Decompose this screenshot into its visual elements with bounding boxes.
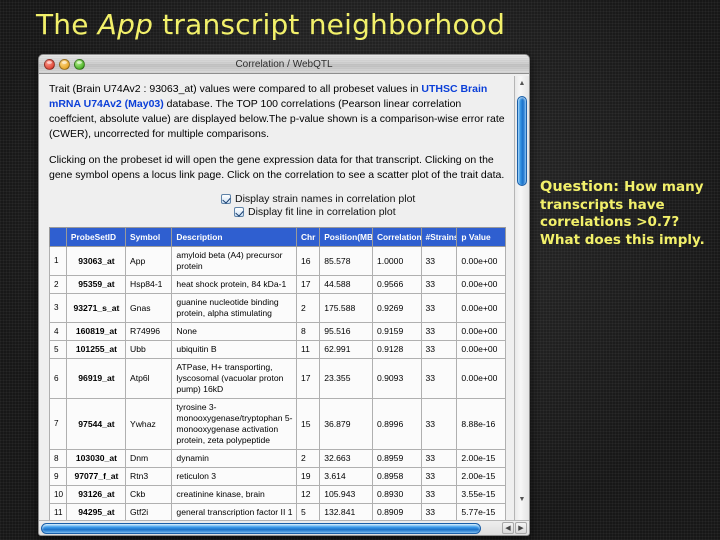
cell-description: ubiquitin B <box>172 341 297 359</box>
table-header: ProbeSetID Symbol Description Chr Positi… <box>50 228 506 247</box>
cell-strain-count: 33 <box>421 294 457 323</box>
column-header-chr[interactable]: Chr <box>296 228 319 247</box>
column-header-index[interactable] <box>50 228 67 247</box>
cell-correlation[interactable]: 0.8959 <box>372 450 421 468</box>
column-header-probesetid[interactable]: ProbeSetID <box>66 228 125 247</box>
checkbox-checked-icon[interactable] <box>234 207 244 217</box>
checkbox-row-strain-names[interactable]: Display strain names in correlation plot <box>221 193 506 205</box>
cell-position-mb: 36.879 <box>320 399 373 450</box>
intro-text-a: Trait (Brain U74Av2 : 93063_at) values w… <box>49 83 421 95</box>
question-label: Question: <box>540 179 624 195</box>
cell-position-mb: 85.578 <box>320 247 373 276</box>
cell-description: guanine nucleotide binding protein, alph… <box>172 294 297 323</box>
cell-p-value: 3.55e-15 <box>457 486 506 504</box>
cell-position-mb: 95.516 <box>320 323 373 341</box>
page-title-suffix: transcript neighborhood <box>153 8 505 41</box>
horizontal-scrollbar[interactable]: ◀ ▶ <box>39 520 529 535</box>
cell-position-mb: 62.991 <box>320 341 373 359</box>
cell-chromosome: 16 <box>296 247 319 276</box>
cell-description: amyloid beta (A4) precursor protein <box>172 247 297 276</box>
cell-p-value: 2.00e-15 <box>457 468 506 486</box>
cell-chromosome: 11 <box>296 341 319 359</box>
cell-probeset-id[interactable]: 95359_at <box>66 276 125 294</box>
page-content: Trait (Brain U74Av2 : 93063_at) values w… <box>39 76 514 520</box>
cell-chromosome: 2 <box>296 294 319 323</box>
table-header-row: ProbeSetID Symbol Description Chr Positi… <box>50 228 506 247</box>
cell-gene-symbol[interactable]: Rtn3 <box>125 468 171 486</box>
scroll-left-arrow-icon[interactable]: ◀ <box>502 522 514 534</box>
cell-correlation[interactable]: 0.8909 <box>372 504 421 520</box>
cell-description: dynamin <box>172 450 297 468</box>
cell-description: creatinine kinase, brain <box>172 486 297 504</box>
column-header-symbol[interactable]: Symbol <box>125 228 171 247</box>
page-title-gene: App <box>98 8 153 41</box>
cell-description: reticulon 3 <box>172 468 297 486</box>
cell-p-value: 0.00e+00 <box>457 247 506 276</box>
cell-p-value: 2.00e-15 <box>457 450 506 468</box>
window-controls <box>44 59 85 70</box>
cell-position-mb: 175.588 <box>320 294 373 323</box>
cell-strain-count: 33 <box>421 359 457 399</box>
column-header-position[interactable]: Position(MB) <box>320 228 373 247</box>
window-titlebar[interactable]: Correlation / WebQTL <box>39 55 529 74</box>
checkbox-label-fit-line: Display fit line in correlation plot <box>248 206 396 218</box>
cell-chromosome: 5 <box>296 504 319 520</box>
cell-chromosome: 17 <box>296 276 319 294</box>
cell-p-value: 0.00e+00 <box>457 323 506 341</box>
vertical-scrollbar[interactable]: ▲ ▼ <box>514 76 529 520</box>
cell-row-index: 1 <box>50 247 67 276</box>
cell-p-value: 5.77e-15 <box>457 504 506 520</box>
cell-correlation[interactable]: 0.9093 <box>372 359 421 399</box>
table-row: 797544_atYwhaztyrosine 3-monooxygenase/t… <box>50 399 506 450</box>
cell-position-mb: 3.614 <box>320 468 373 486</box>
table-row: 295359_atHsp84-1heat shock protein, 84 k… <box>50 276 506 294</box>
cell-chromosome: 17 <box>296 359 319 399</box>
table-body: 193063_atAppamyloid beta (A4) precursor … <box>50 247 506 520</box>
cell-chromosome: 2 <box>296 450 319 468</box>
cell-strain-count: 33 <box>421 468 457 486</box>
question-callout: Question: How many transcripts have corr… <box>540 178 712 249</box>
cell-gene-symbol[interactable]: Atp6l <box>125 359 171 399</box>
cell-position-mb: 132.841 <box>320 504 373 520</box>
cell-description: ATPase, H+ transporting, lyscosomal (vac… <box>172 359 297 399</box>
cell-description: tyrosine 3-monooxygenase/tryptophan 5-mo… <box>172 399 297 450</box>
cell-position-mb: 32.663 <box>320 450 373 468</box>
cell-correlation[interactable]: 0.9566 <box>372 276 421 294</box>
cell-chromosome: 15 <box>296 399 319 450</box>
cell-probeset-id[interactable]: 96919_at <box>66 359 125 399</box>
checkbox-checked-icon[interactable] <box>221 194 231 204</box>
table-row: 997077_f_atRtn3reticulon 3193.6140.89583… <box>50 468 506 486</box>
scroll-up-arrow-icon[interactable]: ▲ <box>515 78 529 90</box>
window-title: Correlation / WebQTL <box>39 59 529 70</box>
cell-strain-count: 33 <box>421 323 457 341</box>
cell-gene-symbol[interactable]: Gnas <box>125 294 171 323</box>
cell-p-value: 0.00e+00 <box>457 341 506 359</box>
cell-gene-symbol[interactable]: App <box>125 247 171 276</box>
cell-row-index: 10 <box>50 486 67 504</box>
minimize-button-icon[interactable] <box>59 59 70 70</box>
cell-gene-symbol[interactable]: Ywhaz <box>125 399 171 450</box>
page-title: The App transcript neighborhood <box>36 8 505 41</box>
cell-row-index: 5 <box>50 341 67 359</box>
horizontal-scrollbar-thumb[interactable] <box>41 523 481 534</box>
cell-p-value: 0.00e+00 <box>457 359 506 399</box>
table-row: 393271_s_atGnasguanine nucleotide bindin… <box>50 294 506 323</box>
application-window: Correlation / WebQTL Trait (Brain U74Av2… <box>38 54 530 536</box>
cell-p-value: 0.00e+00 <box>457 276 506 294</box>
cell-strain-count: 33 <box>421 247 457 276</box>
intro-paragraph-1: Trait (Brain U74Av2 : 93063_at) values w… <box>49 82 506 142</box>
cell-position-mb: 23.355 <box>320 359 373 399</box>
checkbox-label-strain-names: Display strain names in correlation plot <box>235 193 415 205</box>
cell-correlation[interactable]: 0.8930 <box>372 486 421 504</box>
checkbox-row-fit-line[interactable]: Display fit line in correlation plot <box>234 206 506 218</box>
cell-strain-count: 33 <box>421 486 457 504</box>
cell-correlation[interactable]: 0.8958 <box>372 468 421 486</box>
cell-correlation[interactable]: 0.9269 <box>372 294 421 323</box>
cell-correlation[interactable]: 0.9128 <box>372 341 421 359</box>
table-row: 696919_atAtp6lATPase, H+ transporting, l… <box>50 359 506 399</box>
cell-position-mb: 44.588 <box>320 276 373 294</box>
cell-probeset-id[interactable]: 160819_at <box>66 323 125 341</box>
cell-p-value: 8.88e-16 <box>457 399 506 450</box>
cell-chromosome: 8 <box>296 323 319 341</box>
table-row: 193063_atAppamyloid beta (A4) precursor … <box>50 247 506 276</box>
cell-probeset-id[interactable]: 103030_at <box>66 450 125 468</box>
cell-row-index: 11 <box>50 504 67 520</box>
cell-probeset-id[interactable]: 97544_at <box>66 399 125 450</box>
cell-probeset-id[interactable]: 94295_at <box>66 504 125 520</box>
cell-correlation[interactable]: 0.9159 <box>372 323 421 341</box>
cell-row-index: 4 <box>50 323 67 341</box>
cell-description: None <box>172 323 297 341</box>
cell-row-index: 3 <box>50 294 67 323</box>
cell-row-index: 6 <box>50 359 67 399</box>
table-row: 4160819_atR74996None895.5160.9159330.00e… <box>50 323 506 341</box>
page-title-prefix: The <box>36 8 98 41</box>
cell-probeset-id[interactable]: 97077_f_at <box>66 468 125 486</box>
cell-gene-symbol[interactable]: R74996 <box>125 323 171 341</box>
cell-row-index: 8 <box>50 450 67 468</box>
maximize-button-icon[interactable] <box>74 59 85 70</box>
cell-chromosome: 12 <box>296 486 319 504</box>
cell-gene-symbol[interactable]: Hsp84-1 <box>125 276 171 294</box>
cell-gene-symbol[interactable]: Gtf2i <box>125 504 171 520</box>
cell-chromosome: 19 <box>296 468 319 486</box>
correlation-results-table: ProbeSetID Symbol Description Chr Positi… <box>49 227 506 520</box>
cell-gene-symbol[interactable]: Ckb <box>125 486 171 504</box>
scroll-down-arrow-icon[interactable]: ▼ <box>515 494 529 506</box>
cell-strain-count: 33 <box>421 450 457 468</box>
table-row: 8103030_atDnmdynamin232.6630.8959332.00e… <box>50 450 506 468</box>
cell-row-index: 9 <box>50 468 67 486</box>
window-body: Trait (Brain U74Av2 : 93063_at) values w… <box>39 74 529 520</box>
table-row: 1194295_atGtf2igeneral transcription fac… <box>50 504 506 520</box>
cell-gene-symbol[interactable]: Dnm <box>125 450 171 468</box>
column-header-correlation[interactable]: Correlation <box>372 228 421 247</box>
vertical-scrollbar-thumb[interactable] <box>517 96 527 186</box>
cell-correlation[interactable]: 1.0000 <box>372 247 421 276</box>
cell-correlation[interactable]: 0.8996 <box>372 399 421 450</box>
table-row: 5101255_atUbbubiquitin B1162.9910.912833… <box>50 341 506 359</box>
cell-description: heat shock protein, 84 kDa-1 <box>172 276 297 294</box>
cell-probeset-id[interactable]: 93271_s_at <box>66 294 125 323</box>
cell-probeset-id[interactable]: 93063_at <box>66 247 125 276</box>
close-button-icon[interactable] <box>44 59 55 70</box>
cell-strain-count: 33 <box>421 504 457 520</box>
horizontal-scroll-arrows: ◀ ▶ <box>502 522 527 534</box>
column-header-description[interactable]: Description <box>172 228 297 247</box>
cell-description: general transcription factor II 1 <box>172 504 297 520</box>
cell-p-value: 0.00e+00 <box>457 294 506 323</box>
cell-strain-count: 33 <box>421 399 457 450</box>
column-header-pvalue[interactable]: p Value <box>457 228 506 247</box>
cell-gene-symbol[interactable]: Ubb <box>125 341 171 359</box>
cell-row-index: 2 <box>50 276 67 294</box>
intro-paragraph-2: Clicking on the probeset id will open th… <box>49 153 506 183</box>
cell-probeset-id[interactable]: 93126_at <box>66 486 125 504</box>
cell-strain-count: 33 <box>421 341 457 359</box>
cell-position-mb: 105.943 <box>320 486 373 504</box>
cell-row-index: 7 <box>50 399 67 450</box>
cell-probeset-id[interactable]: 101255_at <box>66 341 125 359</box>
column-header-strains[interactable]: #Strains <box>421 228 457 247</box>
cell-strain-count: 33 <box>421 276 457 294</box>
scroll-right-arrow-icon[interactable]: ▶ <box>515 522 527 534</box>
table-row: 1093126_atCkbcreatinine kinase, brain121… <box>50 486 506 504</box>
